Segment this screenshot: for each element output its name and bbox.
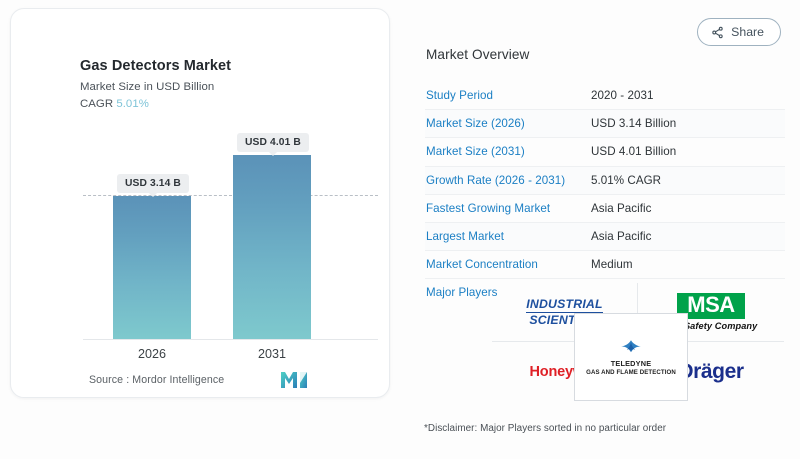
x-axis-baseline	[83, 339, 378, 340]
table-row: Largest Market Asia Pacific	[425, 223, 785, 251]
row-key: Market Concentration	[425, 258, 591, 271]
row-value: Asia Pacific	[591, 230, 652, 243]
market-overview-title: Market Overview	[426, 47, 529, 62]
share-button[interactable]: Share	[697, 18, 781, 46]
table-row: Growth Rate (2026 - 2031) 5.01% CAGR	[425, 167, 785, 195]
source-text: Source : Mordor Intelligence	[89, 374, 224, 386]
teledyne-line1: TELEDYNE	[611, 359, 652, 368]
row-key: Largest Market	[425, 230, 591, 243]
row-key: Study Period	[425, 89, 591, 102]
share-button-label: Share	[731, 25, 764, 39]
row-value: Asia Pacific	[591, 202, 652, 215]
x-tick-2026: 2026	[107, 347, 197, 361]
teledyne-line2: GAS AND FLAME DETECTION	[586, 369, 676, 376]
data-label-2031: USD 4.01 B	[237, 133, 309, 152]
row-value: 5.01% CAGR	[591, 174, 661, 187]
row-value: USD 4.01 Billion	[591, 145, 676, 158]
chart-card: Gas Detectors Market Market Size in USD …	[10, 8, 390, 398]
disclaimer-text: *Disclaimer: Major Players sorted in no …	[424, 423, 666, 434]
x-tick-2031: 2031	[227, 347, 317, 361]
row-value: USD 3.14 Billion	[591, 117, 676, 130]
drager-mark: Dräger	[678, 360, 743, 384]
row-key: Market Size (2031)	[425, 145, 591, 158]
row-key: Fastest Growing Market	[425, 202, 591, 215]
bar-chart-plot: USD 3.14 B USD 4.01 B 2026 2031	[11, 9, 389, 397]
table-row: Market Size (2031) USD 4.01 Billion	[425, 138, 785, 166]
row-value: 2020 - 2031	[591, 89, 653, 102]
row-key: Market Size (2026)	[425, 117, 591, 130]
page-root: Gas Detectors Market Market Size in USD …	[0, 0, 800, 459]
share-icon	[711, 26, 724, 39]
table-row: Study Period 2020 - 2031	[425, 82, 785, 110]
mordor-intelligence-logo-icon	[281, 372, 307, 388]
table-row: Market Concentration Medium	[425, 251, 785, 279]
data-label-2026: USD 3.14 B	[117, 174, 189, 193]
row-value: Medium	[591, 258, 633, 271]
table-row: Market Size (2026) USD 3.14 Billion	[425, 110, 785, 138]
logo-teledyne: TELEDYNE GAS AND FLAME DETECTION	[574, 313, 688, 401]
teledyne-flame-icon	[617, 339, 645, 354]
bar-2026[interactable]	[113, 196, 191, 339]
row-key: Growth Rate (2026 - 2031)	[425, 174, 591, 187]
indsci-line1: INDUSTRIAL	[526, 297, 602, 314]
major-players-logos: INDUSTRIAL SCIENTIFIC MSA The Safety Com…	[492, 283, 784, 401]
market-overview-table: Study Period 2020 - 2031 Market Size (20…	[425, 82, 785, 305]
table-row: Fastest Growing Market Asia Pacific	[425, 195, 785, 223]
bar-2031[interactable]	[233, 155, 311, 339]
